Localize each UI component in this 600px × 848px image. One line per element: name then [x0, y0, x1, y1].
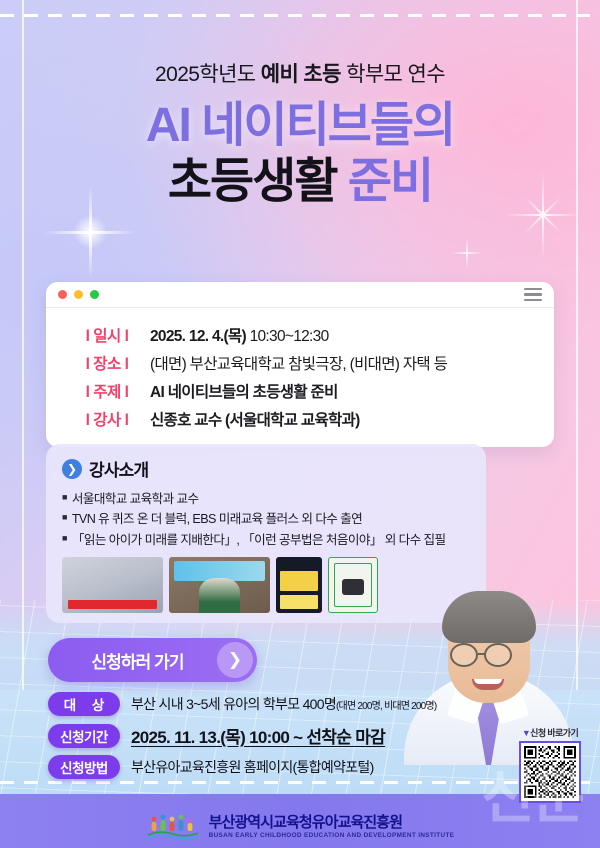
kicker-bold: 예비 초등	[261, 63, 341, 86]
apply-value-target: 부산 시내 3~5세 유아의 학부모 400명(대면 200명, 비대면 200…	[131, 694, 436, 714]
event-info-card: l 일시 l 2025. 12. 4.(목) 10:30~12:30 l 장소 …	[46, 282, 554, 447]
triangle-down-icon: ▼	[522, 728, 530, 738]
apply-value-period: 2025. 11. 13.(목) 10:00 ~ 선착순 마감	[131, 723, 385, 748]
info-label-place: l 장소 l	[64, 352, 150, 374]
square-bullet-icon: ■	[62, 509, 67, 529]
pill-application-method: 신청방법	[48, 755, 120, 779]
table-row: 대 상 부산 시내 3~5세 유아의 학부모 400명(대면 200명, 비대면…	[48, 692, 468, 716]
qr-code-image	[524, 746, 576, 798]
table-row: l 장소 l (대면) 부산교육대학교 참빛극장, (비대면) 자택 등	[46, 349, 554, 377]
page-title: AI 네이티브들의 초등생활 준비	[0, 102, 600, 207]
qr-code-block[interactable]: ▼신청 바로가기	[514, 726, 586, 803]
table-row: l 일시 l 2025. 12. 4.(목) 10:30~12:30	[46, 321, 554, 349]
application-details: 대 상 부산 시내 3~5세 유아의 학부모 400명(대면 200명, 비대면…	[48, 692, 468, 786]
instructor-item-0: 서울대학교 교육학과 교수	[72, 489, 199, 509]
apply-value-target-small: (대면 200명, 비대면 200명)	[336, 701, 436, 712]
list-item: ■ 서울대학교 교육학과 교수	[62, 489, 470, 509]
tvn-yoo-quiz-thumbnail	[62, 557, 163, 613]
pill-target-audience: 대 상	[48, 692, 120, 716]
table-row: l 강사 l 신종호 교수 (서울대학교 교육학과)	[46, 405, 554, 433]
instructor-item-1: TVN 유 퀴즈 온 더 블럭, EBS 미래교육 플러스 외 다수 출연	[72, 509, 362, 529]
poster-kicker: 2025학년도 예비 초등 학부모 연수	[0, 58, 600, 88]
title-line-1: AI 네이티브들의	[0, 102, 600, 151]
info-value-lecturer: 신종호 교수 (서울대학교 교육학과)	[150, 408, 360, 430]
info-label-date: l 일시 l	[64, 324, 150, 346]
title-line-2-black: 초등생활	[168, 155, 337, 208]
green-dot-icon	[90, 290, 99, 299]
busan-institute-logo-icon	[146, 812, 200, 842]
instructor-heading: 강사소개	[89, 456, 148, 481]
eyeglasses-right-icon	[484, 643, 512, 667]
list-item: ■ 「읽는 아이가 미래를 지배한다」, 「이런 공부법은 처음이야」 외 다수…	[62, 530, 470, 550]
eyeglasses-left-icon	[450, 643, 478, 667]
square-bullet-icon: ■	[62, 489, 67, 509]
table-row: l 주제 l AI 네이티브들의 초등생활 준비	[46, 377, 554, 405]
apply-value-method: 부산유아교육진흥원 홈페이지(통합예약포털)	[131, 757, 374, 777]
instructor-heading-row: ❯ 강사소개	[62, 456, 470, 481]
book-cover-study-method	[328, 557, 378, 613]
footer-logo-block: 부산광역시교육청유아교육진흥원 BUSAN EARLY CHILDHOOD ED…	[0, 812, 600, 842]
qr-code[interactable]	[519, 741, 581, 803]
apply-value-target-main: 부산 시내 3~5세 유아의 학부모 400명	[131, 696, 336, 712]
apply-now-button-label: 신청하러 가기	[48, 648, 217, 673]
apply-now-button[interactable]: 신청하러 가기 ❯	[48, 638, 257, 682]
table-row: 신청기간 2025. 11. 13.(목) 10:00 ~ 선착순 마감	[48, 723, 468, 748]
info-value-date: 2025. 12. 4.(목) 10:30~12:30	[150, 324, 329, 346]
window-dots	[58, 290, 99, 299]
red-dot-icon	[58, 290, 67, 299]
title-line-2: 초등생활 준비	[0, 157, 600, 207]
poster-root: 2025학년도 예비 초등 학부모 연수 AI 네이티브들의 초등생활 준비 l…	[0, 0, 600, 848]
pill-application-period: 신청기간	[48, 724, 120, 748]
hamburger-menu-icon[interactable]	[524, 288, 542, 302]
qr-code-label: ▼신청 바로가기	[514, 726, 586, 739]
footer-institute-name: 부산광역시교육청유아교육진흥원 BUSAN EARLY CHILDHOOD ED…	[209, 815, 455, 839]
table-row: 신청방법 부산유아교육진흥원 홈페이지(통합예약포털)	[48, 755, 468, 779]
info-value-place: (대면) 부산교육대학교 참빛극장, (비대면) 자택 등	[150, 352, 447, 374]
chevron-right-icon: ❯	[62, 459, 82, 479]
book-cover-reading-child	[276, 557, 322, 613]
ebs-future-education-plus-thumbnail	[169, 557, 270, 613]
info-label-lecturer: l 강사 l	[64, 408, 150, 430]
instructor-item-2: 「읽는 아이가 미래를 지배한다」, 「이런 공부법은 처음이야」 외 다수 집…	[72, 530, 446, 550]
info-label-topic: l 주제 l	[64, 380, 150, 402]
yellow-dot-icon	[74, 290, 83, 299]
info-value-date-rest: 10:30~12:30	[246, 328, 329, 345]
dashed-rule-top	[0, 14, 600, 17]
footer-name-en: BUSAN EARLY CHILDHOOD EDUCATION AND DEVE…	[209, 832, 455, 839]
info-value-date-bold: 2025. 12. 4.(목)	[150, 328, 246, 345]
list-item: ■ TVN 유 퀴즈 온 더 블럭, EBS 미래교육 플러스 외 다수 출연	[62, 509, 470, 529]
info-value-topic: AI 네이티브들의 초등생활 준비	[150, 380, 338, 402]
kicker-suffix: 학부모 연수	[341, 63, 445, 86]
square-bullet-icon: ■	[62, 530, 67, 550]
footer-name-kr: 부산광역시교육청유아교육진흥원	[209, 815, 455, 832]
chevron-right-icon: ❯	[217, 642, 253, 678]
card-titlebar	[46, 282, 554, 308]
event-info-list: l 일시 l 2025. 12. 4.(목) 10:30~12:30 l 장소 …	[46, 308, 554, 447]
title-line-2-purple: 준비	[348, 155, 432, 208]
kicker-prefix: 2025학년도	[155, 63, 261, 86]
qr-code-label-text: 신청 바로가기	[530, 728, 578, 738]
